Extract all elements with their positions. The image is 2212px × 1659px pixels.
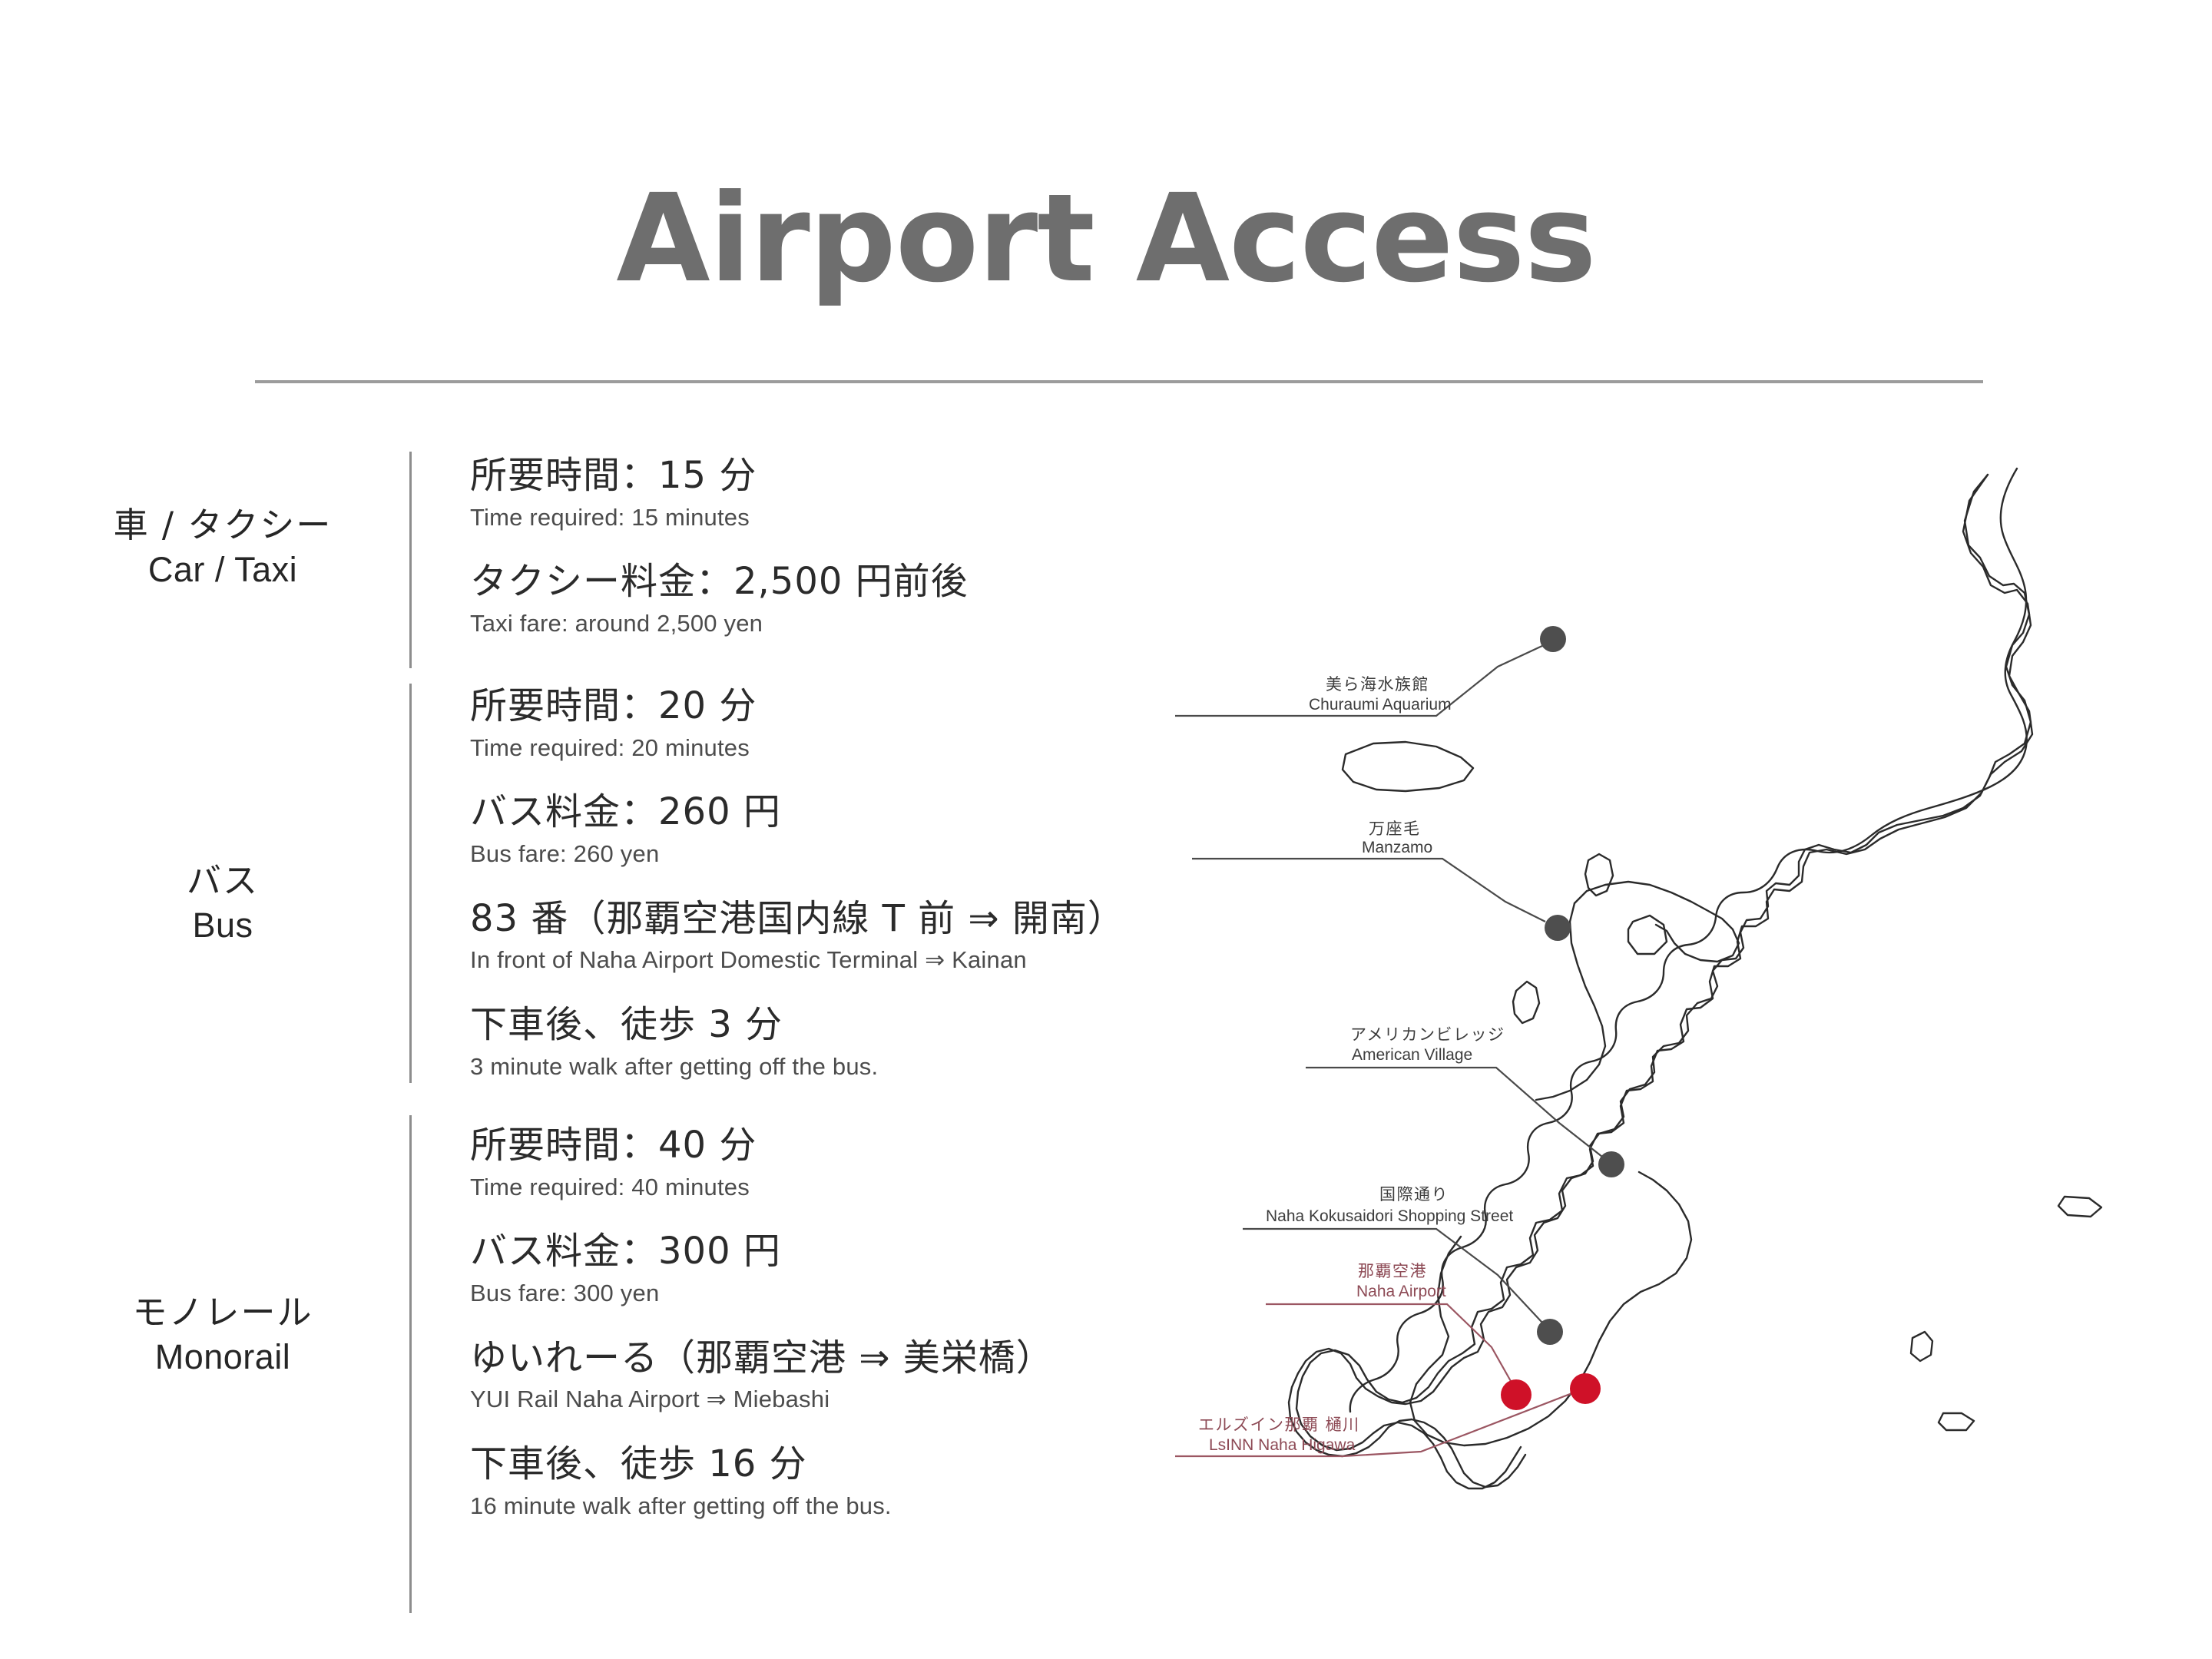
detail-item: バス料金：300 円 Bus fare: 300 yen: [470, 1229, 1054, 1309]
detail-jp: 所要時間：40 分: [470, 1123, 1054, 1168]
detail-item: ゆいれーる（那覇空港 ⇒ 美栄橋） YUI Rail Naha Airport …: [470, 1336, 1054, 1416]
map-label-jp-manzamo: 万座毛: [1369, 820, 1421, 838]
okinawa-coast-detail: [1296, 475, 2032, 1488]
section-divider-bus: [409, 684, 412, 1083]
detail-jp: 所要時間：15 分: [470, 453, 969, 498]
offshore-islets: [1343, 742, 2101, 1430]
map-label-jp-naha-airport: 那覇空港: [1358, 1262, 1427, 1280]
detail-jp: 下車後、徒歩 3 分: [470, 1002, 1125, 1048]
detail-en: Bus fare: 300 yen: [470, 1277, 1054, 1310]
section-divider-monorail: [409, 1115, 412, 1613]
map-label-en-kokusaidori: Naha Kokusaidori Shopping Street: [1266, 1207, 1513, 1225]
detail-item: 所要時間：40 分 Time required: 40 minutes: [470, 1123, 1054, 1203]
detail-en: Time required: 40 minutes: [470, 1171, 1054, 1204]
detail-jp: 83 番（那覇空港国内線 T 前 ⇒ 開南）: [470, 896, 1125, 942]
mode-label-bus: バス Bus: [46, 859, 399, 948]
section-divider-car-taxi: [409, 452, 412, 668]
page-title: Airport Access: [0, 178, 2212, 300]
detail-list-bus: 所要時間：20 分 Time required: 20 minutes バス料金…: [470, 684, 1125, 1083]
map-label-en-american-village: American Village: [1352, 1046, 1472, 1064]
okinawa-map: 美ら海水族館 Churaumi Aquarium 万座毛 Manzamo アメリ…: [1175, 461, 2197, 1598]
detail-jp: バス料金：300 円: [470, 1229, 1054, 1274]
motobu-peninsula: [1536, 882, 1739, 1100]
map-label-jp-american-village: アメリカンビレッジ: [1350, 1025, 1505, 1044]
detail-jp: タクシー料金：2,500 円前後: [470, 559, 969, 604]
mode-label-car-taxi: 車 / タクシー Car / Taxi: [46, 503, 399, 592]
detail-list-monorail: 所要時間：40 分 Time required: 40 minutes バス料金…: [470, 1123, 1054, 1522]
map-label-jp-lsinn: エルズイン那覇 樋川: [1198, 1416, 1360, 1434]
detail-en: Bus fare: 260 yen: [470, 838, 1125, 870]
okinawa-main-shape: [1350, 469, 2027, 1412]
detail-list-car-taxi: 所要時間：15 分 Time required: 15 minutes タクシー…: [470, 453, 969, 640]
detail-en: Time required: 15 minutes: [470, 502, 969, 534]
detail-jp: 下車後、徒歩 16 分: [470, 1442, 1054, 1487]
detail-en: 3 minute walk after getting off the bus.: [470, 1051, 1125, 1083]
mode-label-monorail: モノレール Monorail: [46, 1290, 399, 1379]
detail-jp: 所要時間：20 分: [470, 684, 1125, 729]
mode-label-jp: バス: [46, 859, 399, 903]
detail-en: Taxi fare: around 2,500 yen: [470, 608, 969, 640]
map-label-jp-churaumi: 美ら海水族館: [1326, 675, 1429, 694]
map-label-jp-kokusaidori: 国際通り: [1379, 1185, 1449, 1204]
map-label-en-lsinn: LsINN Naha Higawa: [1209, 1436, 1356, 1454]
map-marker-american-village[interactable]: [1306, 1068, 1624, 1177]
detail-en: YUI Rail Naha Airport ⇒ Miebashi: [470, 1383, 1054, 1416]
mode-label-en: Car / Taxi: [46, 548, 399, 593]
mode-label-en: Bus: [46, 903, 399, 949]
map-label-en-manzamo: Manzamo: [1362, 839, 1432, 856]
detail-item: 所要時間：20 分 Time required: 20 minutes: [470, 684, 1125, 763]
map-label-en-churaumi: Churaumi Aquarium: [1309, 696, 1452, 714]
detail-item: 下車後、徒歩 3 分 3 minute walk after getting o…: [470, 1002, 1125, 1082]
mode-label-en: Monorail: [46, 1335, 399, 1380]
detail-en: In front of Naha Airport Domestic Termin…: [470, 944, 1125, 976]
map-marker-manzamo[interactable]: [1192, 859, 1571, 941]
detail-item: 下車後、徒歩 16 分 16 minute walk after getting…: [470, 1442, 1054, 1522]
mode-label-jp: 車 / タクシー: [46, 503, 399, 548]
detail-en: 16 minute walk after getting off the bus…: [470, 1490, 1054, 1522]
detail-jp: バス料金：260 円: [470, 790, 1125, 835]
mode-label-jp: モノレール: [46, 1290, 399, 1335]
map-label-en-naha-airport: Naha Airport: [1356, 1283, 1446, 1300]
title-divider-rule: [255, 380, 1983, 383]
detail-en: Time required: 20 minutes: [470, 732, 1125, 764]
detail-item: 83 番（那覇空港国内線 T 前 ⇒ 開南） In front of Naha …: [470, 896, 1125, 976]
detail-item: バス料金：260 円 Bus fare: 260 yen: [470, 790, 1125, 869]
detail-item: 所要時間：15 分 Time required: 15 minutes: [470, 453, 969, 533]
detail-jp: ゆいれーる（那覇空港 ⇒ 美栄橋）: [470, 1336, 1054, 1381]
detail-item: タクシー料金：2,500 円前後 Taxi fare: around 2,500…: [470, 559, 969, 639]
